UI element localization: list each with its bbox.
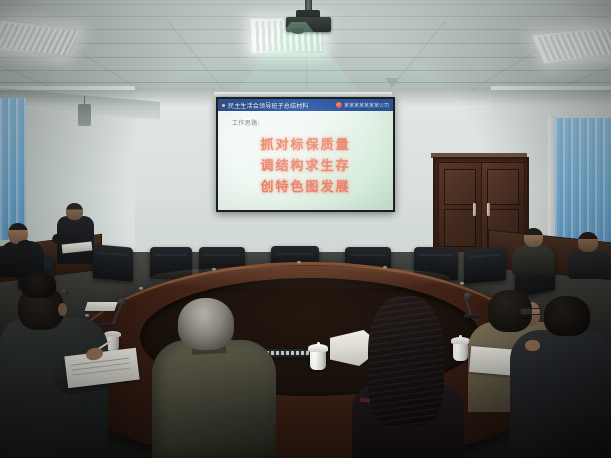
teacup-knob xyxy=(459,335,462,338)
document-stack xyxy=(85,302,118,311)
teacup-body xyxy=(453,342,468,361)
person-torso xyxy=(512,245,555,275)
teacup-lid xyxy=(308,344,328,352)
table-stud xyxy=(139,287,143,290)
glasses-icon xyxy=(520,308,541,315)
conference-chair[interactable] xyxy=(150,247,192,279)
left-window-curtain xyxy=(0,98,26,240)
person-torso xyxy=(568,249,611,279)
door-panel xyxy=(444,169,476,205)
presentation-slide: 民主生活会领导班子总结材料 某某某某某某某公司 工作思路: 抓对标保质量 调结构… xyxy=(218,99,393,210)
slide-body: 抓对标保质量 调结构求生存 创特色图发展 xyxy=(218,127,393,210)
slide-line-2: 调结构求生存 xyxy=(260,155,350,174)
slide-line-3: 创特色图发展 xyxy=(260,176,350,195)
microphone-head-icon xyxy=(61,288,69,295)
slide-line-1: 抓对标保质量 xyxy=(260,134,350,153)
person-head xyxy=(524,228,543,247)
slide-bullet-icon xyxy=(222,104,225,107)
person-head xyxy=(578,232,598,252)
person-head xyxy=(178,298,234,350)
person-head xyxy=(22,272,56,298)
person-ear xyxy=(58,303,67,316)
right-window-curtain xyxy=(555,118,611,246)
microphone-head-icon xyxy=(118,298,126,305)
company-logo-icon xyxy=(336,102,342,108)
person-head xyxy=(66,203,83,220)
conference-room-photo: 民主生活会领导班子总结材料 某某某某某某某公司 工作思路: 抓对标保质量 调结构… xyxy=(0,0,611,458)
teacup-lid xyxy=(104,331,121,337)
person-torso xyxy=(152,340,276,458)
slide-logo: 某某某某某某某公司 xyxy=(336,102,389,109)
door-handle-icon[interactable] xyxy=(487,203,490,216)
person-hand xyxy=(525,340,540,351)
door-panel xyxy=(487,169,519,205)
wall-speaker xyxy=(78,104,91,126)
projector-lens-icon xyxy=(292,28,304,34)
slide-logo-text: 某某某某某某某公司 xyxy=(344,102,389,109)
person-head xyxy=(544,296,590,336)
door-handle-icon[interactable] xyxy=(473,203,476,216)
microphone-head-icon xyxy=(464,292,472,299)
person-torso xyxy=(510,330,611,458)
slide-title-bar: 民主生活会领导班子总结材料 某某某某某某某公司 xyxy=(218,99,393,111)
conference-chair[interactable] xyxy=(464,246,506,284)
conference-chair[interactable] xyxy=(93,244,133,281)
projection-screen: 民主生活会领导班子总结材料 某某某某某某某公司 工作思路: 抓对标保质量 调结构… xyxy=(216,97,395,212)
teacup-lid xyxy=(451,337,470,344)
door-panel xyxy=(444,209,476,247)
teacup-knob xyxy=(317,342,320,345)
person-head xyxy=(368,296,444,426)
slide-title-text: 民主生活会领导班子总结材料 xyxy=(228,101,309,110)
slide-subtitle: 工作思路: xyxy=(232,118,393,127)
teacup-body xyxy=(310,350,326,370)
